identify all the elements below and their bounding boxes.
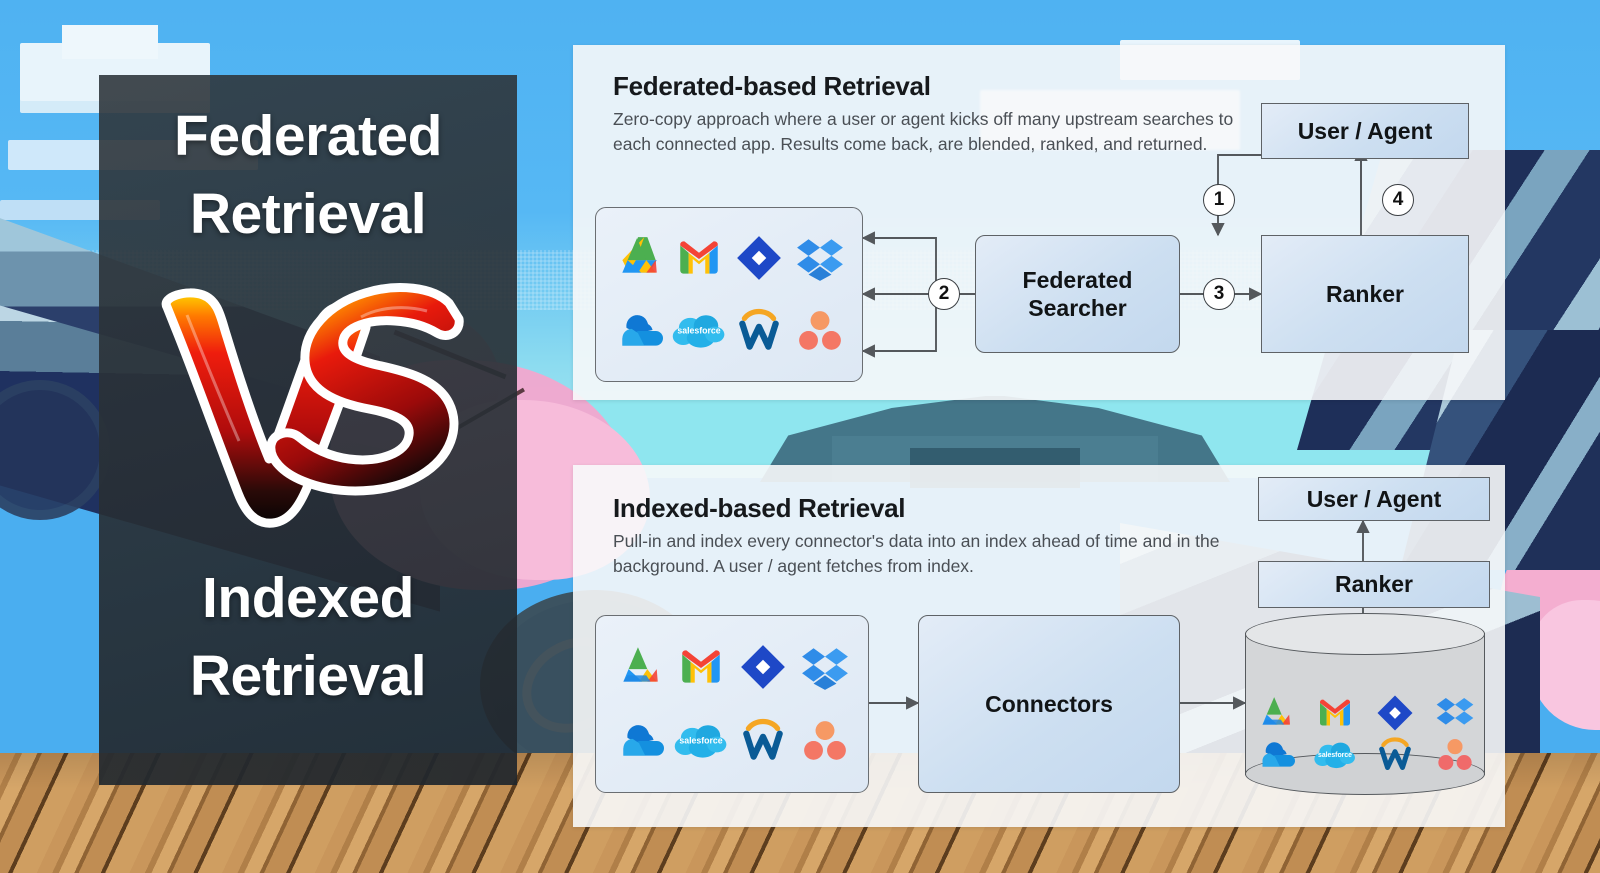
step-badge-1: 1	[1203, 184, 1235, 216]
ranker-node[interactable]: Ranker	[1258, 561, 1490, 608]
title-indexed-line2: Retrieval	[190, 637, 426, 715]
ranker-label: Ranker	[1335, 570, 1413, 598]
dropbox-icon	[792, 233, 848, 283]
indexed-retrieval-panel: Indexed-based Retrieval Pull-in and inde…	[573, 465, 1505, 827]
gmail-icon	[1313, 693, 1357, 733]
salesforce-icon: salesforce	[671, 306, 727, 356]
federated-searcher-label: Federated Searcher	[1023, 266, 1133, 322]
ranker-node[interactable]: Ranker	[1261, 235, 1469, 353]
user-agent-label: User / Agent	[1298, 117, 1433, 145]
vs-logo: VS	[143, 275, 473, 535]
connectors-label: Connectors	[985, 690, 1113, 718]
federated-retrieval-panel: Federated-based Retrieval Zero-copy appr…	[573, 45, 1505, 400]
onedrive-icon	[610, 306, 666, 356]
svg-text:salesforce: salesforce	[1318, 752, 1352, 759]
versus-title-card: Federated Retrieval	[99, 75, 517, 785]
indexed-panel-title: Indexed-based Retrieval	[613, 493, 905, 524]
workday-icon	[1373, 735, 1417, 775]
jira-icon	[731, 233, 787, 283]
user-agent-label: User / Agent	[1307, 485, 1442, 513]
jira-icon	[735, 642, 791, 692]
asana-icon	[797, 716, 853, 766]
cherry-blossom	[1530, 600, 1600, 730]
google-drive-icon	[1253, 693, 1297, 733]
user-agent-node[interactable]: User / Agent	[1261, 103, 1469, 159]
federated-searcher-node[interactable]: Federated Searcher	[975, 235, 1180, 353]
workday-icon	[731, 306, 787, 356]
step-badge-3: 3	[1203, 278, 1235, 310]
gmail-icon	[673, 642, 729, 692]
federated-panel-title: Federated-based Retrieval	[613, 71, 931, 102]
connected-apps-box: salesforce	[595, 615, 869, 793]
workday-icon	[735, 716, 791, 766]
salesforce-icon: salesforce	[673, 716, 729, 766]
title-indexed-line1: Indexed	[202, 559, 414, 637]
jira-icon	[1373, 693, 1417, 733]
connected-apps-box: salesforce	[595, 207, 863, 382]
federated-panel-description: Zero-copy approach where a user or agent…	[613, 107, 1243, 157]
dropbox-icon	[797, 642, 853, 692]
dropbox-icon	[1433, 693, 1477, 733]
onedrive-icon	[611, 716, 667, 766]
ranker-label: Ranker	[1326, 280, 1404, 308]
connectors-node[interactable]: Connectors	[918, 615, 1180, 793]
title-federated-line1: Federated	[174, 97, 442, 175]
user-agent-node[interactable]: User / Agent	[1258, 477, 1490, 521]
title-federated-line2: Retrieval	[190, 175, 426, 253]
salesforce-icon: salesforce	[1313, 735, 1357, 775]
step-badge-2: 2	[928, 278, 960, 310]
step-badge-4: 4	[1382, 184, 1414, 216]
index-cylinder: salesforce	[1245, 613, 1485, 795]
onedrive-icon	[1253, 735, 1297, 775]
asana-icon	[1433, 735, 1477, 775]
google-drive-icon	[611, 642, 667, 692]
svg-text:salesforce: salesforce	[679, 736, 722, 746]
asana-icon	[792, 306, 848, 356]
indexed-panel-description: Pull-in and index every connector's data…	[613, 529, 1243, 579]
gmail-icon	[671, 233, 727, 283]
google-drive-icon	[610, 233, 666, 283]
svg-text:salesforce: salesforce	[677, 325, 720, 335]
